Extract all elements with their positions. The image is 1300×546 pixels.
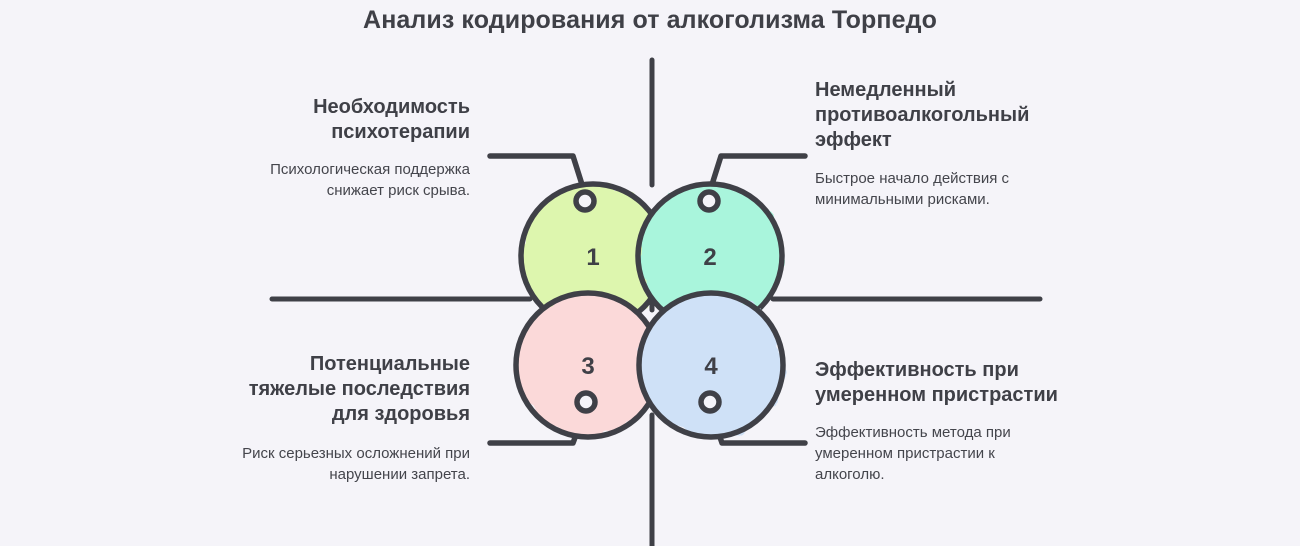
quadrant-circle-diagram: 1 2 3 4 <box>0 0 1300 546</box>
quadrant-4-text: Эффективность при умеренном пристрастии … <box>815 358 1065 485</box>
circle-4-number: 4 <box>704 353 718 380</box>
quadrant-2-heading: Немедленный противоалкогольный эффект <box>815 78 1065 153</box>
quadrant-3-heading: Потенциальные тяжелые последствия для зд… <box>240 352 470 427</box>
quadrant-2-text: Немедленный противоалкогольный эффект Бы… <box>815 78 1065 210</box>
quadrant-1-heading: Необходимость психотерапии <box>240 95 470 145</box>
circle-3-number: 3 <box>581 353 594 380</box>
circle-4-node[interactable] <box>701 393 719 411</box>
quadrant-1-body: Психологическая поддержка снижает риск с… <box>240 159 470 201</box>
circle-1-number: 1 <box>586 244 599 271</box>
circle-2-node[interactable] <box>700 192 718 210</box>
quadrant-4-heading: Эффективность при умеренном пристрастии <box>815 358 1065 408</box>
quadrant-3-body: Риск серьезных осложнений при нарушении … <box>240 443 470 485</box>
circle-2-number: 2 <box>703 244 716 271</box>
quadrant-1-text: Необходимость психотерапии Психологическ… <box>240 95 470 201</box>
circle-4[interactable]: 4 <box>639 293 783 437</box>
circle-1-node[interactable] <box>576 192 594 210</box>
infographic-canvas: Анализ кодирования от алкоголизма Торпед… <box>0 0 1300 546</box>
quadrant-4-body: Эффективность метода при умеренном прист… <box>815 422 1065 485</box>
quadrant-2-body: Быстрое начало действия с минимальными р… <box>815 168 1065 210</box>
circle-3-node[interactable] <box>577 393 595 411</box>
quadrant-3-text: Потенциальные тяжелые последствия для зд… <box>240 352 470 485</box>
